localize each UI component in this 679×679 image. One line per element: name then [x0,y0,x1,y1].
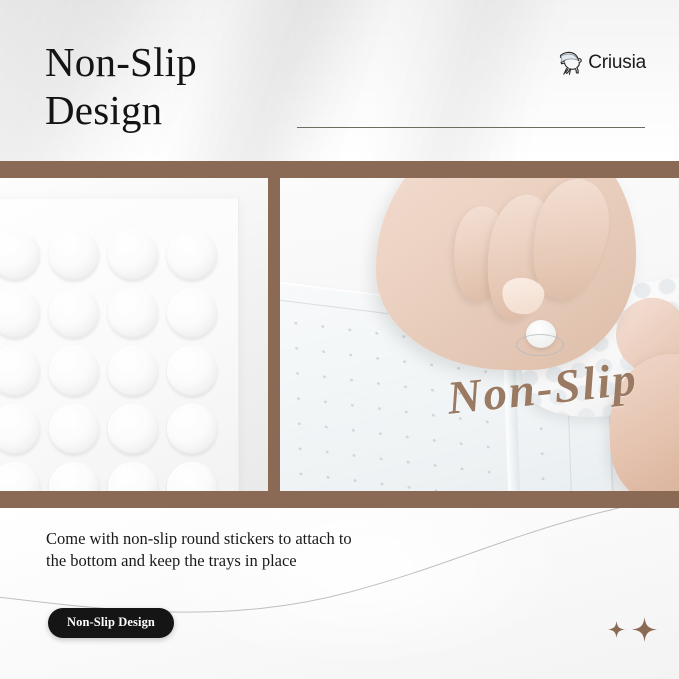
brand-logo: Criusia [556,50,646,76]
sticker-pad [108,462,158,491]
sticker-pad [0,288,40,338]
photo-frame-band: Non-Slip [0,161,679,508]
header-section: Non-Slip Design Criusia [0,0,679,161]
kangaroo-logo-icon [556,50,586,76]
sparkle-decoration-group [608,617,657,647]
sticker-pad [49,288,99,338]
sticker-pad [108,346,158,396]
sticker-pad [108,230,158,280]
sticker-pad [108,288,158,338]
page-title: Non-Slip Design [45,38,335,134]
sticker-pad [167,404,217,454]
sticker-pad [0,230,40,280]
sticker-pad [0,346,40,396]
sticker-pad [0,404,40,454]
brand-name-label: Criusia [588,52,646,74]
sparkle-large-icon [632,617,657,647]
sticker-pad [108,404,158,454]
footer-section: Come with non-slip round stickers to att… [0,508,679,679]
sticker-pad [49,346,99,396]
sticker-pad [49,462,99,491]
sticker-pad [167,346,217,396]
photo-left-sticker-sheet [0,178,268,491]
photo-right-application-demo: Non-Slip [280,178,679,491]
sticker-pad-grid [0,230,268,491]
sticker-pad [0,462,40,491]
sticker-pad [49,230,99,280]
sticker-pad [167,288,217,338]
sparkle-small-icon [608,621,625,643]
sticker-pad [49,404,99,454]
product-infographic-page: Non-Slip Design Criusia [0,0,679,679]
sticker-pad [167,230,217,280]
sticker-placement-ring [516,334,564,356]
status-badge: Non-Slip Design [48,608,174,638]
primary-hand [376,178,636,370]
header-divider-rule [297,127,645,128]
caption-text: Come with non-slip round stickers to att… [46,528,406,572]
sticker-pad [167,462,217,491]
